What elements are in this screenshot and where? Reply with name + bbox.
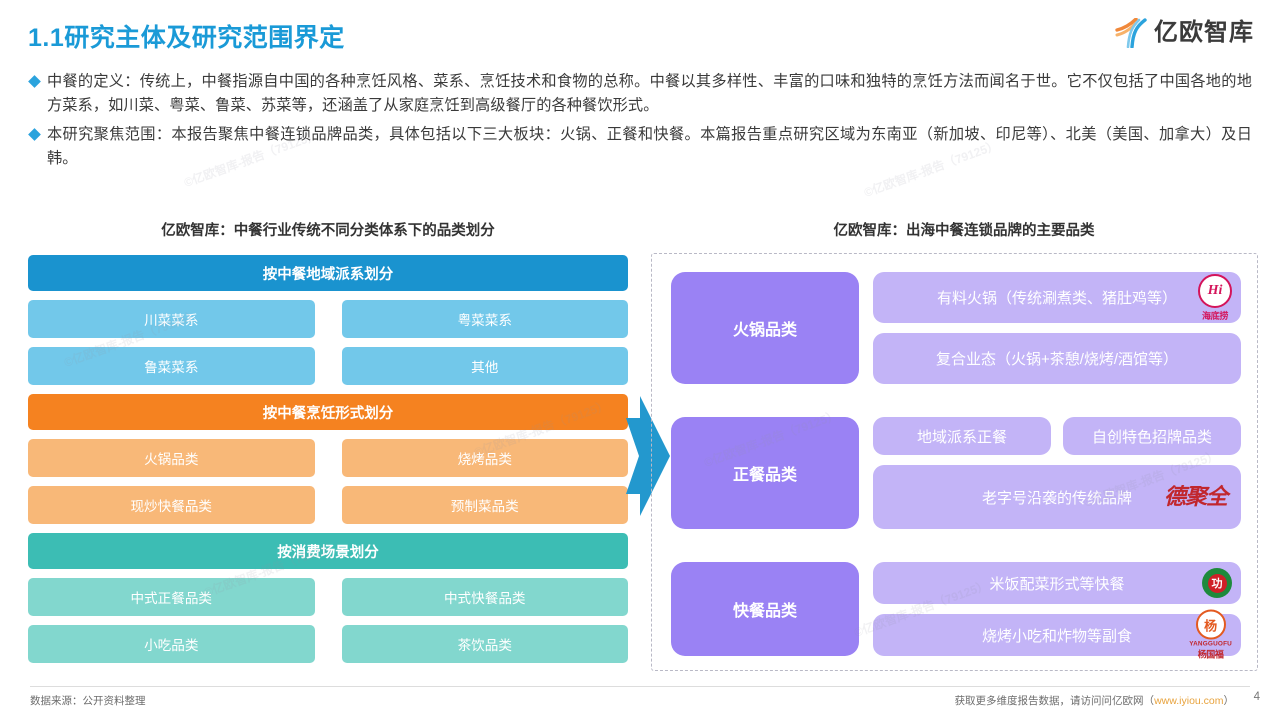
category-cell[interactable]: 现炒快餐品类 xyxy=(28,486,315,524)
category-item[interactable]: 有料火锅（传统涮煮类、猪肚鸡等） Hi 海底捞 xyxy=(873,272,1241,323)
zhengongfu-logo-icon: 功 xyxy=(1202,568,1232,598)
table-row: 川菜菜系 粤菜菜系 xyxy=(28,300,628,338)
dejuquan-logo-icon: 德聚全 xyxy=(1164,486,1227,508)
group-items-hotpot: 有料火锅（传统涮煮类、猪肚鸡等） Hi 海底捞 复合业态（火锅+茶憩/烧烤/酒馆… xyxy=(873,272,1241,384)
category-item-label: 有料火锅（传统涮煮类、猪肚鸡等） xyxy=(937,287,1177,308)
right-overseas-panel: 火锅品类 有料火锅（传统涮煮类、猪肚鸡等） Hi 海底捞 复合业态（火锅+茶憩/… xyxy=(651,253,1258,671)
table-row: 现炒快餐品类 预制菜品类 xyxy=(28,486,628,524)
yangguofu-en: YANGGUOFU xyxy=(1189,641,1232,648)
category-cell[interactable]: 预制菜品类 xyxy=(342,486,629,524)
group-label-fastfood[interactable]: 快餐品类 xyxy=(671,562,859,656)
bullet-text: 中餐的定义：传统上，中餐指源自中国的各种烹饪风格、菜系、烹饪技术和食物的总称。中… xyxy=(47,70,1252,117)
slide-root: 1.1研究主体及研究范围界定 亿欧智库 中餐的定义：传统上，中餐指源自中国的各种… xyxy=(0,0,1280,720)
classification-group-region: 按中餐地域派系划分 川菜菜系 粤菜菜系 鲁菜菜系 其他 xyxy=(28,255,628,385)
category-subrow: 地域派系正餐 自创特色招牌品类 xyxy=(873,417,1241,455)
footer-source: 数据来源：公开资料整理 xyxy=(30,693,146,708)
haidilao-logo-icon: Hi 海底捞 xyxy=(1198,274,1232,322)
zhengongfu-mark: 功 xyxy=(1202,568,1232,598)
intro-bullets: 中餐的定义：传统上，中餐指源自中国的各种烹饪风格、菜系、烹饪技术和食物的总称。中… xyxy=(30,70,1252,176)
diamond-bullet-icon xyxy=(28,75,41,88)
category-item[interactable]: 自创特色招牌品类 xyxy=(1063,417,1241,455)
category-cell[interactable]: 小吃品类 xyxy=(28,625,315,663)
category-item[interactable]: 复合业态（火锅+茶憩/烧烤/酒馆等） xyxy=(873,333,1241,384)
classification-group-cooking: 按中餐烹饪形式划分 火锅品类 烧烤品类 现炒快餐品类 预制菜品类 xyxy=(28,394,628,524)
category-item[interactable]: 地域派系正餐 xyxy=(873,417,1051,455)
haidilao-mark: Hi xyxy=(1198,274,1232,308)
category-item-label: 烧烤小吃和炸物等副食 xyxy=(982,625,1132,646)
list-item: 中餐的定义：传统上，中餐指源自中国的各种烹饪风格、菜系、烹饪技术和食物的总称。中… xyxy=(30,70,1252,117)
footer-divider xyxy=(30,686,1250,687)
left-panel-caption: 亿欧智库：中餐行业传统不同分类体系下的品类划分 xyxy=(0,219,656,240)
category-cell[interactable]: 烧烤品类 xyxy=(342,439,629,477)
brand-logo-text: 亿欧智库 xyxy=(1154,21,1254,45)
group-header-scenario: 按消费场景划分 xyxy=(28,533,628,569)
table-row: 鲁菜菜系 其他 xyxy=(28,347,628,385)
footer-note-prefix: 获取更多维度报告数据，请访问问亿欧网（ xyxy=(955,695,1155,707)
dejuquan-name: 德聚全 xyxy=(1164,486,1227,508)
brand-logo: 亿欧智库 xyxy=(1115,18,1254,48)
category-cell[interactable]: 中式正餐品类 xyxy=(28,578,315,616)
category-item-label: 老字号沿袭的传统品牌 xyxy=(982,487,1132,508)
category-item[interactable]: 烧烤小吃和炸物等副食 杨 YANGGUOFU 杨国福 xyxy=(873,614,1241,656)
footer-note: 获取更多维度报告数据，请访问问亿欧网（www.iyiou.com） xyxy=(955,693,1234,708)
category-item[interactable]: 老字号沿袭的传统品牌 德聚全 xyxy=(873,465,1241,529)
yangguofu-name: 杨国福 xyxy=(1198,648,1224,661)
page-title: 1.1研究主体及研究范围界定 xyxy=(28,18,345,54)
overseas-group-hotpot: 火锅品类 有料火锅（传统涮煮类、猪肚鸡等） Hi 海底捞 复合业态（火锅+茶憩/… xyxy=(671,272,1241,384)
table-row: 小吃品类 茶饮品类 xyxy=(28,625,628,663)
footer-link[interactable]: www.iyiou.com xyxy=(1154,695,1223,707)
right-panel-caption: 亿欧智库：出海中餐连锁品牌的主要品类 xyxy=(648,219,1280,240)
yiou-brand-mark-icon xyxy=(1115,18,1149,48)
group-header-cooking: 按中餐烹饪形式划分 xyxy=(28,394,628,430)
footer-note-suffix: ） xyxy=(1224,695,1235,707)
table-row: 中式正餐品类 中式快餐品类 xyxy=(28,578,628,616)
category-cell[interactable]: 火锅品类 xyxy=(28,439,315,477)
yangguofu-mark: 杨 xyxy=(1196,610,1226,640)
page-number: 4 xyxy=(1254,691,1260,703)
group-items-dinner: 地域派系正餐 自创特色招牌品类 老字号沿袭的传统品牌 德聚全 xyxy=(873,417,1241,529)
classification-group-scenario: 按消费场景划分 中式正餐品类 中式快餐品类 小吃品类 茶饮品类 xyxy=(28,533,628,663)
left-classification-panel: 按中餐地域派系划分 川菜菜系 粤菜菜系 鲁菜菜系 其他 按中餐烹饪形式划分 火锅… xyxy=(28,255,628,672)
overseas-group-fastfood: 快餐品类 米饭配菜形式等快餐 功 烧烤小吃和炸物等副食 杨 YANGGUOFU xyxy=(671,562,1241,656)
category-item[interactable]: 米饭配菜形式等快餐 功 xyxy=(873,562,1241,604)
category-cell[interactable]: 茶饮品类 xyxy=(342,625,629,663)
category-item-label: 复合业态（火锅+茶憩/烧烤/酒馆等） xyxy=(936,348,1178,369)
category-item-label: 米饭配菜形式等快餐 xyxy=(989,573,1124,594)
group-items-fastfood: 米饭配菜形式等快餐 功 烧烤小吃和炸物等副食 杨 YANGGUOFU 杨国福 xyxy=(873,562,1241,656)
category-cell[interactable]: 中式快餐品类 xyxy=(342,578,629,616)
group-header-region: 按中餐地域派系划分 xyxy=(28,255,628,291)
overseas-group-dinner: 正餐品类 地域派系正餐 自创特色招牌品类 老字号沿袭的传统品牌 德聚全 xyxy=(671,417,1241,529)
category-cell[interactable]: 其他 xyxy=(342,347,629,385)
category-cell[interactable]: 鲁菜菜系 xyxy=(28,347,315,385)
table-row: 火锅品类 烧烤品类 xyxy=(28,439,628,477)
group-label-hotpot[interactable]: 火锅品类 xyxy=(671,272,859,384)
category-cell[interactable]: 川菜菜系 xyxy=(28,300,315,338)
haidilao-name: 海底捞 xyxy=(1202,309,1228,322)
category-cell[interactable]: 粤菜菜系 xyxy=(342,300,629,338)
group-label-dinner[interactable]: 正餐品类 xyxy=(671,417,859,529)
diamond-bullet-icon xyxy=(28,128,41,141)
list-item: 本研究聚焦范围：本报告聚焦中餐连锁品牌品类，具体包括以下三大板块：火锅、正餐和快… xyxy=(30,123,1252,170)
bullet-text: 本研究聚焦范围：本报告聚焦中餐连锁品牌品类，具体包括以下三大板块：火锅、正餐和快… xyxy=(47,123,1252,170)
zhengongfu-inner: 功 xyxy=(1208,574,1227,593)
yangguofu-logo-icon: 杨 YANGGUOFU 杨国福 xyxy=(1189,610,1232,661)
